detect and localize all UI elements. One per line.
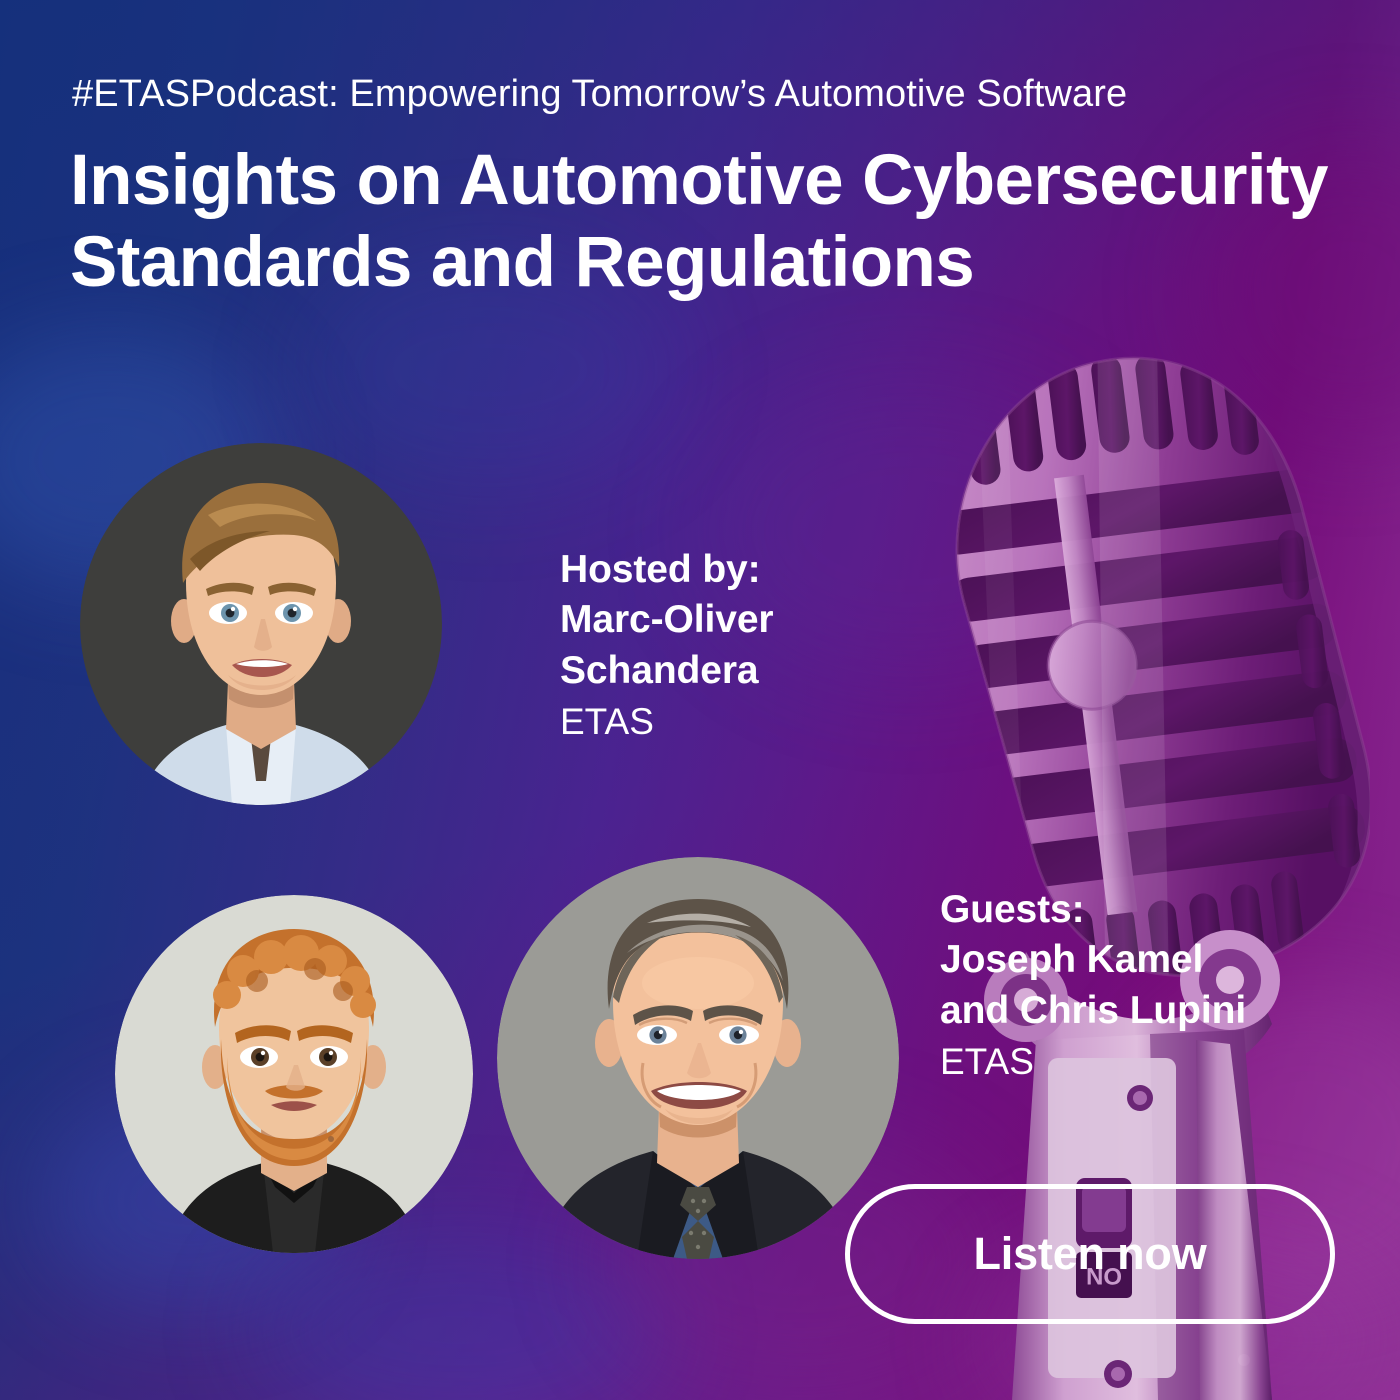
headline-line-1: Insights on Automotive Cybersecurity	[70, 140, 1350, 222]
host-name-line-1: Marc-Oliver	[560, 595, 920, 645]
page-title: Insights on Automotive Cybersecurity Sta…	[70, 140, 1350, 305]
guests-organization: ETAS	[940, 1038, 1360, 1086]
guest-avatar-joseph-kamel	[115, 895, 473, 1253]
podcast-promo-poster: ON #ETASPodcast: Empowering Tomorrow’s A…	[0, 0, 1400, 1400]
guests-role-label: Guests:	[940, 885, 1360, 935]
host-avatar	[80, 443, 442, 805]
headline-line-2: Standards and Regulations	[70, 222, 1350, 304]
guests-name-line-1: Joseph Kamel	[940, 935, 1360, 985]
guests-name-line-2: and Chris Lupini	[940, 986, 1360, 1036]
podcast-kicker: #ETASPodcast: Empowering Tomorrow’s Auto…	[72, 72, 1322, 118]
guests-credit: Guests: Joseph Kamel and Chris Lupini ET…	[940, 885, 1360, 1086]
host-credit: Hosted by: Marc-Oliver Schandera ETAS	[560, 545, 920, 746]
listen-now-button[interactable]: Listen now	[845, 1184, 1335, 1324]
host-role-label: Hosted by:	[560, 545, 920, 595]
host-organization: ETAS	[560, 698, 920, 746]
guest-avatar-chris-lupini	[497, 857, 899, 1259]
host-name-line-2: Schandera	[560, 646, 920, 696]
